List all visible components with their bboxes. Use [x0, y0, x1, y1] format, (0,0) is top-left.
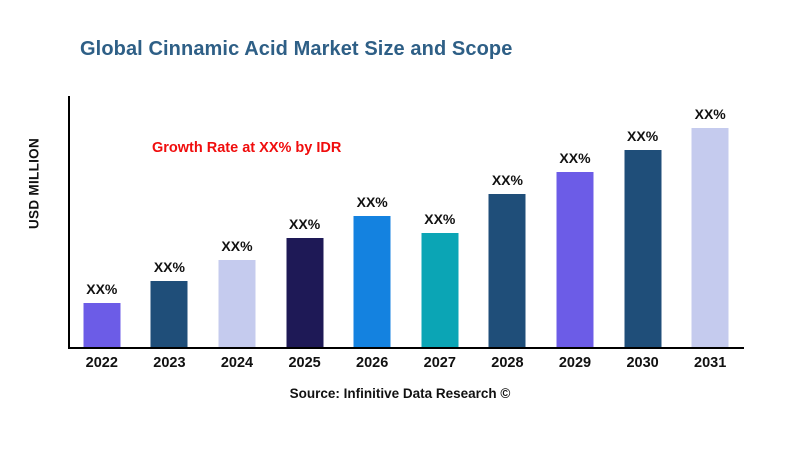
- bar-slot: XX%: [474, 96, 542, 347]
- bar-2028[interactable]: [489, 194, 526, 347]
- page-title: Global Cinnamic Acid Market Size and Sco…: [80, 38, 512, 61]
- bar-value-label-2031: XX%: [695, 107, 726, 121]
- x-tick-2031: 2031: [676, 355, 744, 371]
- x-tick-2027: 2027: [406, 355, 474, 371]
- bar-value-label-2025: XX%: [289, 217, 320, 231]
- x-tick-2029: 2029: [541, 355, 609, 371]
- bar-slot: XX%: [541, 96, 609, 347]
- x-tick-2022: 2022: [68, 355, 136, 371]
- bar-2030[interactable]: [624, 150, 661, 347]
- x-tick-2028: 2028: [474, 355, 542, 371]
- bar-2029[interactable]: [556, 172, 593, 347]
- bar-slot: XX%: [676, 96, 744, 347]
- x-axis-tick-labels: 2022202320242025202620272028202920302031: [68, 355, 744, 377]
- bar-value-label-2029: XX%: [559, 151, 590, 165]
- x-axis-line: [68, 347, 744, 349]
- bar-2026[interactable]: [354, 216, 391, 347]
- bar-slot: XX%: [203, 96, 271, 347]
- bar-series: XX%XX%XX%XX%XX%XX%XX%XX%XX%XX%: [68, 96, 744, 347]
- bar-value-label-2027: XX%: [424, 212, 455, 226]
- y-axis-label: USD MILLION: [27, 104, 42, 264]
- x-tick-2024: 2024: [203, 355, 271, 371]
- bar-slot: XX%: [406, 96, 474, 347]
- bar-value-label-2028: XX%: [492, 173, 523, 187]
- bar-slot: XX%: [136, 96, 204, 347]
- bar-2023[interactable]: [151, 281, 188, 347]
- bar-2027[interactable]: [421, 233, 458, 347]
- bar-2022[interactable]: [83, 303, 120, 347]
- chart-screenshot: Global Cinnamic Acid Market Size and Sco…: [0, 0, 800, 450]
- bar-value-label-2024: XX%: [221, 239, 252, 253]
- bar-value-label-2026: XX%: [357, 195, 388, 209]
- bar-value-label-2022: XX%: [86, 282, 117, 296]
- bar-2024[interactable]: [218, 260, 255, 347]
- bar-slot: XX%: [338, 96, 406, 347]
- x-tick-2023: 2023: [136, 355, 204, 371]
- bar-value-label-2030: XX%: [627, 129, 658, 143]
- bar-slot: XX%: [68, 96, 136, 347]
- bar-slot: XX%: [609, 96, 677, 347]
- plot-area: Growth Rate at XX% by IDR XX%XX%XX%XX%XX…: [68, 96, 744, 349]
- bar-value-label-2023: XX%: [154, 260, 185, 274]
- x-tick-2030: 2030: [609, 355, 677, 371]
- bar-2025[interactable]: [286, 238, 323, 347]
- bar-slot: XX%: [271, 96, 339, 347]
- x-tick-2025: 2025: [271, 355, 339, 371]
- bar-2031[interactable]: [692, 128, 729, 347]
- source-caption: Source: Infinitive Data Research ©: [0, 386, 800, 401]
- x-tick-2026: 2026: [338, 355, 406, 371]
